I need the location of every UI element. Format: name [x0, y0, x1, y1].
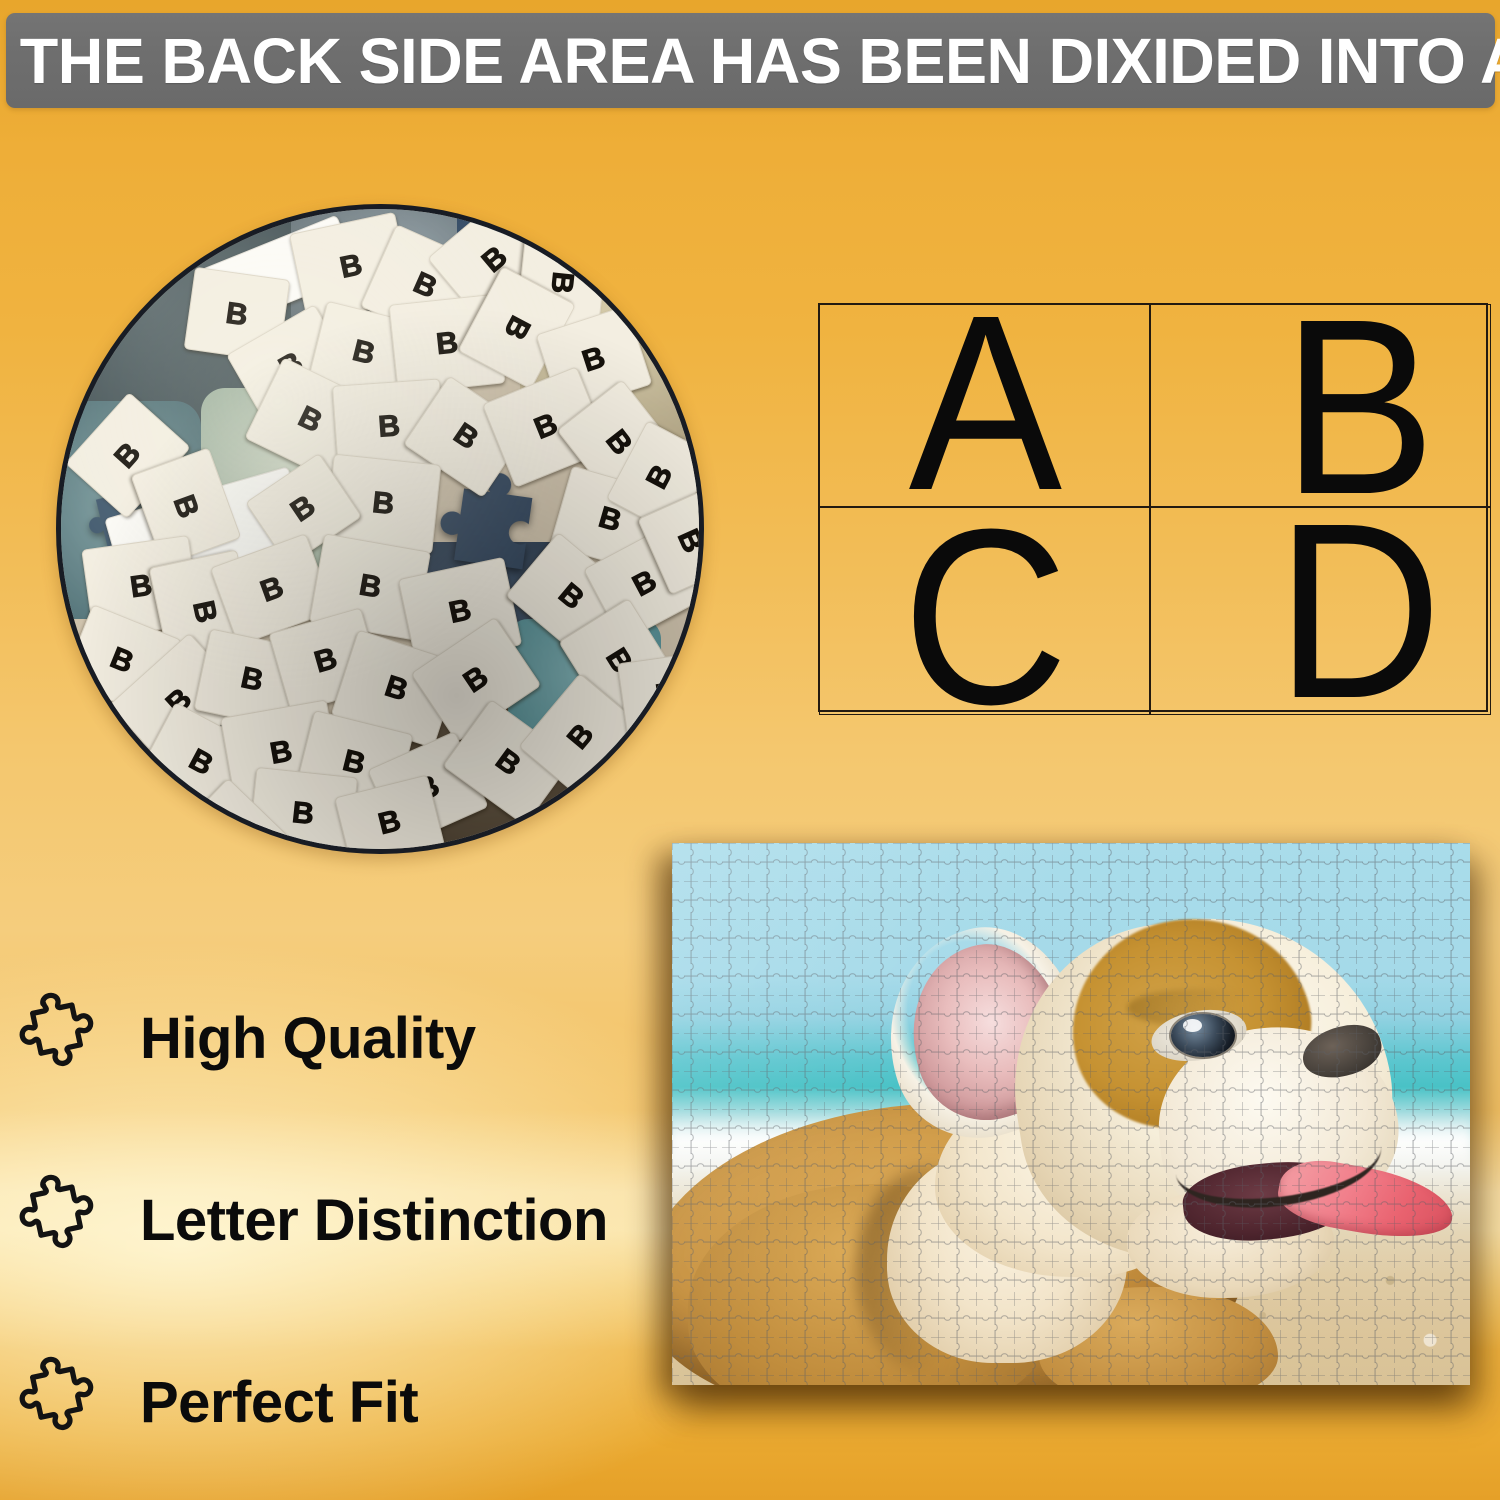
grid-letter-c: C: [902, 519, 1068, 714]
feature-list: High Quality Letter Distinction Perfect …: [18, 985, 658, 1457]
dog-eye-glint: [1183, 1019, 1202, 1032]
puzzle-piece-icon: [18, 1173, 114, 1269]
puzzle-piece-icon: [18, 991, 114, 1087]
grid-letter-a: A: [908, 305, 1061, 500]
puzzle-backs-circle-photo: B B B B B B B B B B B B B B B B B B B B …: [56, 204, 704, 854]
bulldog-puzzle-photo: [672, 843, 1470, 1385]
dog-eye: [1171, 1014, 1235, 1057]
feature-label: High Quality: [140, 1010, 476, 1068]
header-title: THE BACK SIDE AREA HAS BEEN DIXIDED INTO…: [6, 29, 1500, 93]
feature-item-perfect-fit: Perfect Fit: [18, 1349, 658, 1457]
puzzle-piece-b: B: [618, 651, 704, 739]
feature-item-high-quality: High Quality: [18, 985, 658, 1093]
grid-cell-d: D: [1149, 506, 1491, 715]
feature-item-letter-distinction: Letter Distinction: [18, 1167, 658, 1275]
puzzle-piece-icon: [18, 1355, 114, 1451]
back-side-area-grid: A B C D: [818, 303, 1488, 712]
puzzle-backs-scene: B B B B B B B B B B B B B B B B B B B B …: [61, 209, 699, 849]
grid-letter-d: D: [1276, 513, 1442, 708]
beach-scene: [672, 843, 1470, 1385]
grid-cell-c: C: [819, 506, 1151, 715]
feature-label: Letter Distinction: [140, 1192, 608, 1250]
feature-label: Perfect Fit: [140, 1374, 418, 1432]
header-banner: THE BACK SIDE AREA HAS BEEN DIXIDED INTO…: [6, 13, 1495, 108]
